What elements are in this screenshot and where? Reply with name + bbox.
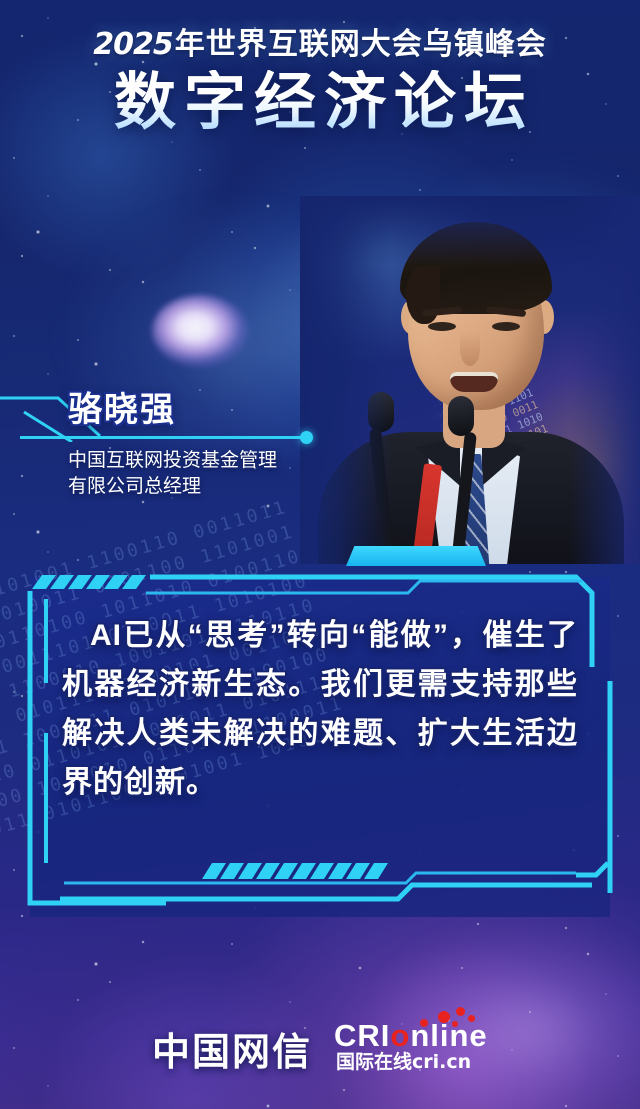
speaker-nose xyxy=(460,332,480,366)
cri-wordmark-o: o xyxy=(390,1018,410,1053)
poster-header: 2025年世界互联网大会乌镇峰会 数字经济论坛 xyxy=(0,30,640,135)
cri-subtitle-domain: cri.cn xyxy=(412,1051,471,1073)
speaker-name: 骆晓强 xyxy=(68,382,176,431)
speaker-eye-left xyxy=(428,322,456,331)
speaker-role-line1: 中国互联网投资基金管理 xyxy=(68,448,340,474)
cri-subtitle-cn: 国际在线 xyxy=(336,1052,412,1073)
event-kicker: 2025年世界互联网大会乌镇峰会 xyxy=(0,30,640,60)
cri-wordmark-pre: CRI xyxy=(334,1018,390,1053)
cri-subtitle: 国际在线cri.cn xyxy=(336,1051,471,1074)
speaker-mouth xyxy=(450,372,498,392)
poster-root: 2025年世界互联网大会乌镇峰会 数字经济论坛 10110 01001 1100… xyxy=(0,0,640,1109)
quote-card: 1010110 0101001 1100110 0011011 0110101 … xyxy=(16,563,624,931)
speaker-eye-right xyxy=(492,322,520,331)
event-kicker-tail: 峰会 xyxy=(485,28,547,61)
quote-text: AI已从“思考”转向“能做”，催生了机器经济新生态。我们更需支持那些解决人类未解… xyxy=(62,611,578,807)
cnwx-logo: 中国网信 xyxy=(152,1021,312,1076)
cri-online-logo: CRIonline 国际在线cri.cn xyxy=(334,1011,524,1075)
event-city-calligraphy: 乌镇 xyxy=(423,27,485,62)
name-underline xyxy=(20,436,308,439)
cri-wordmark: CRIonline xyxy=(334,1019,488,1053)
event-kicker-rest: 年世界互联网大会 xyxy=(175,28,423,61)
page-title: 数字经济论坛 xyxy=(0,70,640,135)
nebula-core-glow xyxy=(152,295,248,367)
cri-wordmark-post: nline xyxy=(410,1018,487,1053)
footer-logos: 中国网信 CRIonline 国际在线cri.cn xyxy=(0,1019,640,1075)
name-endpoint-dot xyxy=(300,431,313,444)
event-year: 2025 xyxy=(93,27,173,62)
microphone-head-right xyxy=(448,396,474,436)
